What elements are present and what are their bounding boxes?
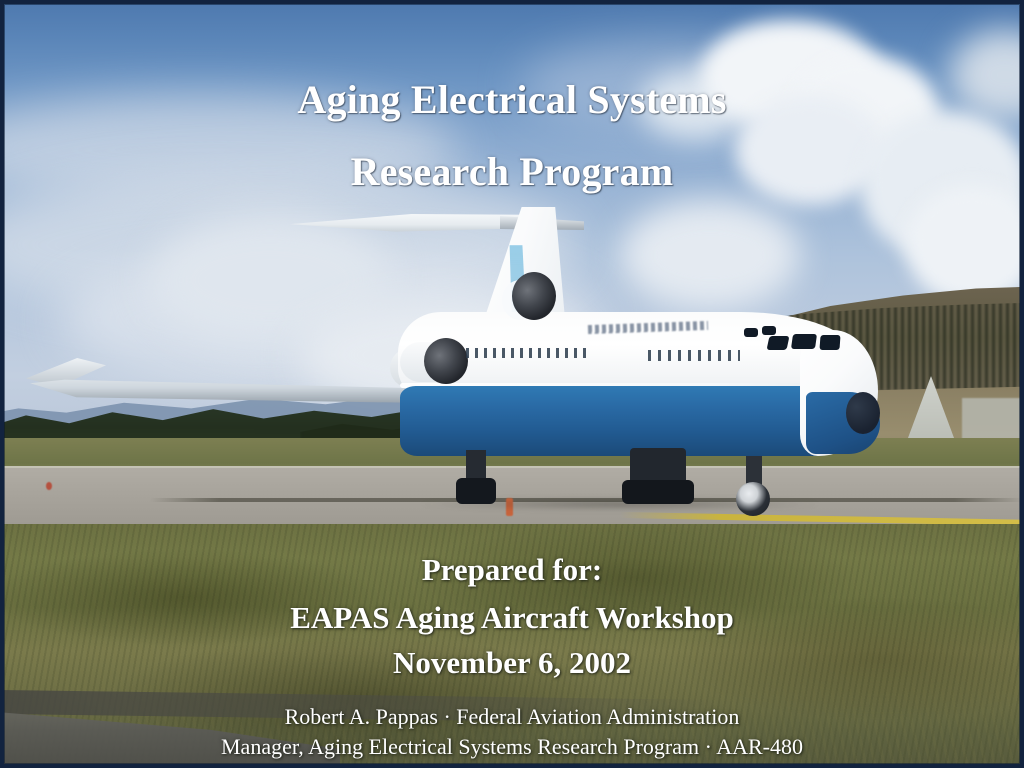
- slide-title-line-1: Aging Electrical Systems: [0, 76, 1024, 123]
- author-role-line: Manager, Aging Electrical Systems Resear…: [0, 734, 1024, 760]
- prepared-for-label: Prepared for:: [0, 552, 1024, 588]
- event-name: EAPAS Aging Aircraft Workshop: [0, 600, 1024, 636]
- slide-title-line-2: Research Program: [0, 148, 1024, 195]
- event-date: November 6, 2002: [0, 645, 1024, 681]
- presentation-slide: Aging Electrical Systems Research Progra…: [0, 0, 1024, 768]
- author-line: Robert A. Pappas · Federal Aviation Admi…: [0, 704, 1024, 730]
- slide-text-overlay: Aging Electrical Systems Research Progra…: [0, 0, 1024, 768]
